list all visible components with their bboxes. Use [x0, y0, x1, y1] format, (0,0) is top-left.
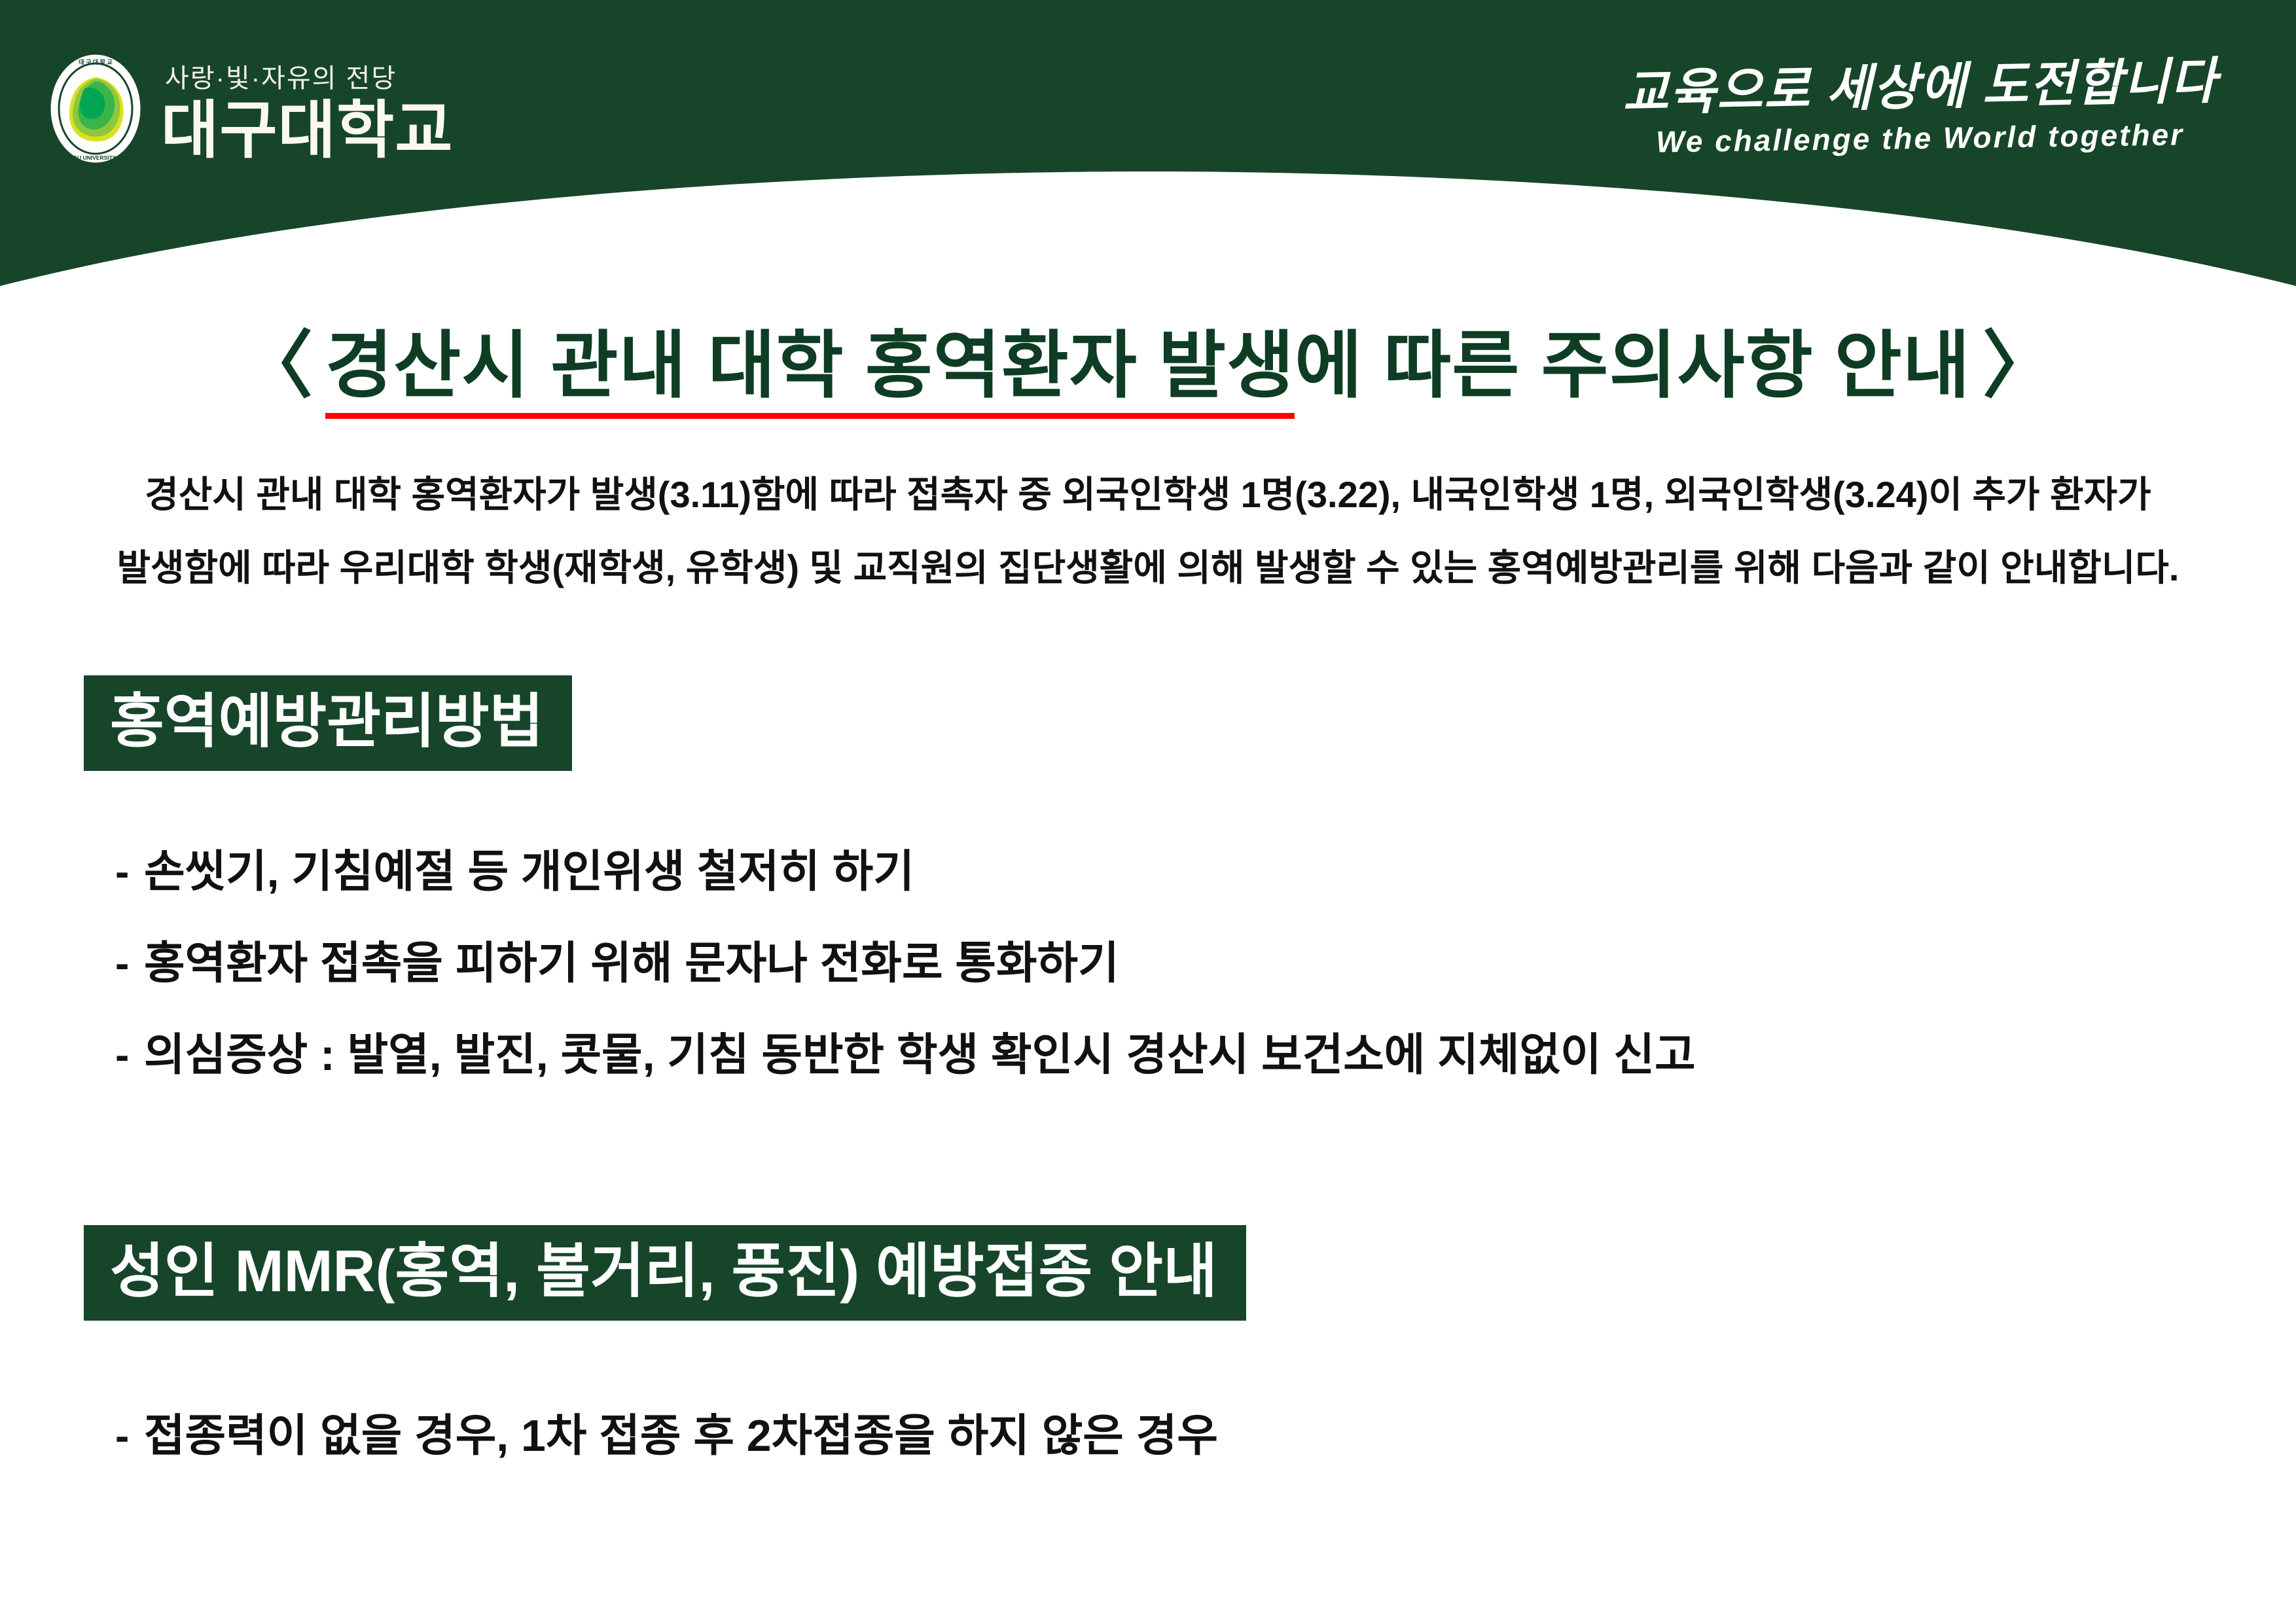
bullet-dash-icon: -	[115, 933, 144, 993]
svg-text:대 구 대 학 교: 대 구 대 학 교	[79, 58, 112, 65]
university-name: 대구대학교	[161, 99, 454, 162]
list-item: - 접종력이 없을 경우, 1차 접종 후 2차접종을 하지 않은 경우	[115, 1406, 1218, 1466]
bullet-text: 의심증상 : 발열, 발진, 콧물, 기침 동반한 학생 확인시 경산시 보건소…	[144, 1025, 1696, 1085]
intro-line-1: 경산시 관내 대학 홍역환자가 발생(3.11)함에 따라 접촉자 중 외국인학…	[0, 458, 2296, 531]
page-title: 〈경산시 관내 대학 홍역환자 발생에 따른 주의사항 안내〉	[0, 306, 2296, 412]
list-item: - 홍역환자 접촉을 피하기 위해 문자나 전화로 통화하기	[115, 933, 1696, 993]
header-content: 대 구 대 학 교 DAEGU UNIVERSITY 1956 사랑·빛·자유의…	[0, 0, 2296, 216]
title-highlight: 경산시 관내 대학 홍역환자 발생	[325, 325, 1295, 419]
slogan-korean: 교육으로 세상에 도전합니다	[1622, 56, 2218, 118]
title-bracket-left: 〈	[228, 325, 325, 406]
bullet-text: 손씻기, 기침예절 등 개인위생 철저히 하기	[144, 842, 914, 902]
header-band: 대 구 대 학 교 DAEGU UNIVERSITY 1956 사랑·빛·자유의…	[0, 0, 2296, 301]
bullet-text: 홍역환자 접촉을 피하기 위해 문자나 전화로 통화하기	[144, 933, 1119, 993]
intro-paragraph: 경산시 관내 대학 홍역환자가 발생(3.11)함에 따라 접촉자 중 외국인학…	[0, 458, 2296, 605]
svg-text:DAEGU UNIVERSITY 1956: DAEGU UNIVERSITY 1956	[61, 154, 130, 161]
bullet-dash-icon: -	[115, 842, 144, 902]
section-badge-mmr: 성인 MMR(홍역, 볼거리, 풍진) 예방접종 안내	[84, 1225, 1246, 1321]
list-item: - 손씻기, 기침예절 등 개인위생 철저히 하기	[115, 842, 1696, 902]
university-logo-text: 사랑·빛·자유의 전당 대구대학교	[161, 65, 454, 166]
section-badge-prevention: 홍역예방관리방법	[84, 675, 572, 771]
list-item: - 의심증상 : 발열, 발진, 콧물, 기침 동반한 학생 확인시 경산시 보…	[115, 1025, 1696, 1085]
university-slogan: 교육으로 세상에 도전합니다 We challenge the World to…	[1623, 63, 2217, 153]
bullet-dash-icon: -	[115, 1406, 144, 1466]
bullet-dash-icon: -	[115, 1025, 144, 1085]
intro-line-2: 발생함에 따라 우리대학 학생(재학생, 유학생) 및 교직원의 집단생활에 의…	[0, 531, 2296, 605]
poster-page: 대 구 대 학 교 DAEGU UNIVERSITY 1956 사랑·빛·자유의…	[0, 0, 2296, 1623]
university-emblem-icon: 대 구 대 학 교 DAEGU UNIVERSITY 1956	[47, 51, 144, 166]
title-rest: 에 따른 주의사항 안내	[1295, 325, 1971, 406]
university-logo: 대 구 대 학 교 DAEGU UNIVERSITY 1956 사랑·빛·자유의…	[47, 51, 454, 166]
slogan-english: We challenge the World together	[1622, 119, 2217, 158]
bullet-text: 접종력이 없을 경우, 1차 접종 후 2차접종을 하지 않은 경우	[144, 1406, 1218, 1466]
title-bracket-right: 〉	[1971, 325, 2068, 406]
bullet-list-prevention: - 손씻기, 기침예절 등 개인위생 철저히 하기 - 홍역환자 접촉을 피하기…	[115, 842, 1696, 1116]
university-tagline: 사랑·빛·자유의 전당	[165, 65, 397, 92]
bullet-list-mmr: - 접종력이 없을 경우, 1차 접종 후 2차접종을 하지 않은 경우	[115, 1406, 1218, 1497]
